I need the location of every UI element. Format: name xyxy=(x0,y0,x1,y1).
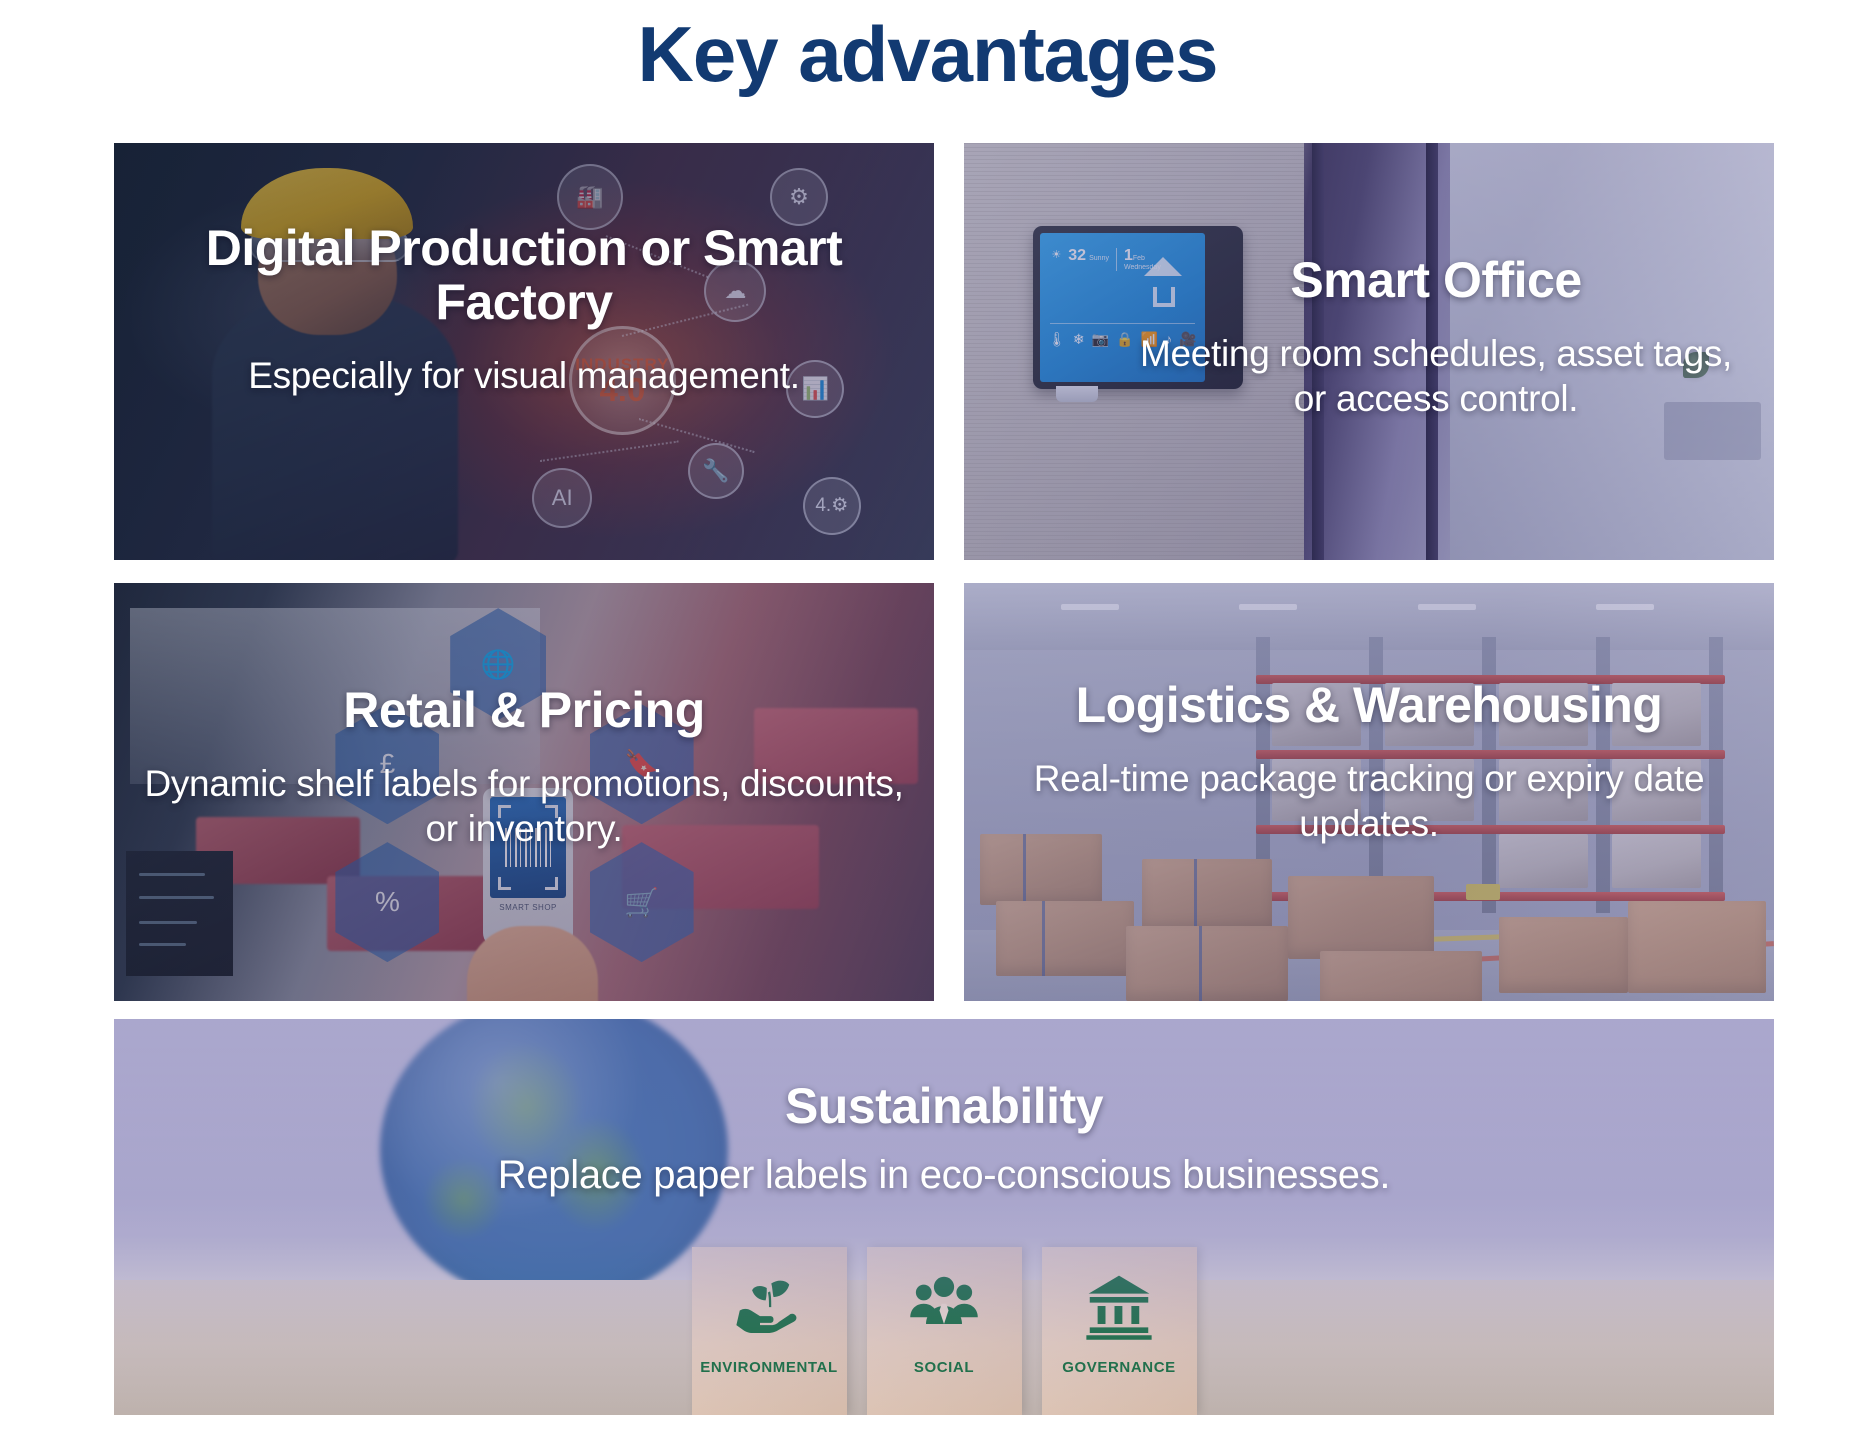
card-title: Sustainability xyxy=(785,1079,1103,1133)
card-description: Replace paper labels in eco-conscious bu… xyxy=(498,1151,1391,1200)
advantages-grid: 🏭 ⚙ ☁ 📊 AI 🔧 4.⚙ INDUSTRY 4.0 Digital Pr… xyxy=(114,143,1774,1415)
card-retail-pricing[interactable]: 🌐 £ 🔖 % 🛒 SMART SHOP xyxy=(114,583,934,1001)
card-smart-office[interactable]: ☀ 32 Sunny 1Feb Wednesday xyxy=(964,143,1774,560)
card-description: Real-time package tracking or expiry dat… xyxy=(990,756,1748,846)
card-title: Digital Production or Smart Factory xyxy=(140,221,908,329)
card-description: Especially for visual management. xyxy=(248,353,800,398)
card-title: Logistics & Warehousing xyxy=(1076,678,1663,732)
card-text-block: Retail & Pricing Dynamic shelf labels fo… xyxy=(114,583,934,1001)
card-text-block: Sustainability Replace paper labels in e… xyxy=(114,1019,1774,1415)
card-description: Dynamic shelf labels for promotions, dis… xyxy=(140,761,908,851)
card-sustainability[interactable]: ENVIRONMENTAL xyxy=(114,1019,1774,1415)
card-title: Smart Office xyxy=(1290,253,1581,307)
card-text-block: Logistics & Warehousing Real-time packag… xyxy=(964,583,1774,1001)
card-digital-production[interactable]: 🏭 ⚙ ☁ 📊 AI 🔧 4.⚙ INDUSTRY 4.0 Digital Pr… xyxy=(114,143,934,560)
card-description: Meeting room schedules, asset tags, or a… xyxy=(1124,331,1748,421)
card-title: Retail & Pricing xyxy=(343,683,705,737)
page-title: Key advantages xyxy=(0,14,1855,96)
card-text-block: Smart Office Meeting room schedules, ass… xyxy=(964,143,1774,560)
card-text-block: Digital Production or Smart Factory Espe… xyxy=(114,143,934,560)
card-logistics-warehousing[interactable]: Logistics & Warehousing Real-time packag… xyxy=(964,583,1774,1001)
slide-root: Key advantages 🏭 ⚙ ☁ 📊 AI 🔧 4.⚙ xyxy=(0,0,1855,1455)
